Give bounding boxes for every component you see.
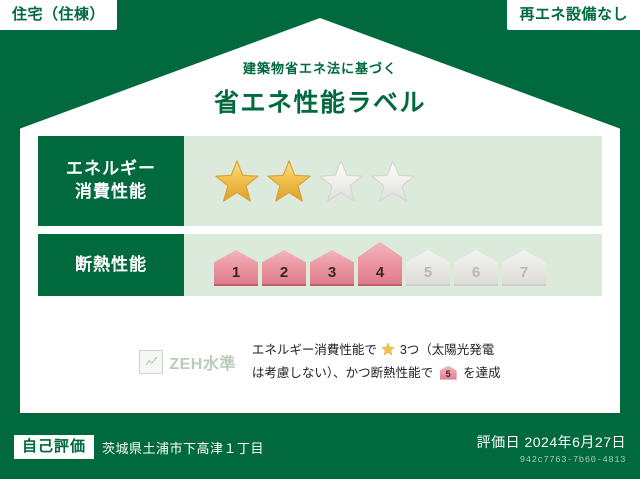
- energy-label-line1: エネルギー: [66, 158, 156, 181]
- grade-badge-5: 5: [406, 252, 450, 286]
- label-title-block: 建築物省エネ法に基づく 省エネ性能ラベル: [20, 58, 620, 119]
- building-type-badge: 住宅（住棟）: [0, 0, 117, 30]
- self-evaluation-badge: 自己評価: [14, 435, 94, 459]
- evaluation-date: 評価日 2024年6月27日: [477, 432, 626, 452]
- grade-badge-6: 6: [454, 252, 498, 286]
- grade-number-6: 6: [472, 265, 480, 286]
- inline-grade-number: 5: [440, 366, 457, 380]
- energy-performance-label-cell: エネルギー 消費性能: [38, 136, 184, 226]
- grade-badge-2: 2: [262, 252, 306, 286]
- inline-star-icon: [381, 345, 398, 359]
- zeh-description: エネルギー消費性能で 3つ（太陽光発電 は考慮しない）、かつ断熱性能で 5: [252, 340, 501, 383]
- zeh-mark: ZEH水準: [139, 350, 236, 374]
- zeh-mark-label: ZEH水準: [169, 350, 236, 374]
- building-type-badge-label: 住宅（住棟）: [12, 6, 105, 23]
- star-icon-filled-2: [266, 158, 312, 204]
- zeh-description-line2: は考慮しない）、かつ断熱性能で 5 を達成: [252, 363, 501, 384]
- label-sheet-inner: 建築物省エネ法に基づく 省エネ性能ラベル エネルギー 消費性能: [20, 18, 620, 413]
- label-footer: 自己評価 茨城県土浦市下高津１丁目 評価日 2024年6月27日 942c776…: [0, 415, 640, 479]
- insulation-performance-value-cell: 1 2 3 4: [184, 234, 602, 296]
- title-subtitle: 建築物省エネ法に基づく: [20, 58, 620, 77]
- self-evaluation-block: 自己評価 茨城県土浦市下高津１丁目: [14, 435, 264, 459]
- grade-number-1: 1: [232, 265, 240, 286]
- zeh-desc-line2-text-a: は考慮しない）、かつ断熱性能で: [252, 366, 433, 380]
- star-icon-filled-1: [214, 158, 260, 204]
- energy-performance-value-cell: [184, 136, 602, 226]
- grade-number-4: 4: [376, 265, 384, 286]
- evaluation-id: 942c7763-7b60-4813: [477, 455, 626, 465]
- property-address: 茨城県土浦市下高津１丁目: [102, 438, 264, 457]
- insulation-label: 断熱性能: [75, 254, 147, 277]
- star-icon-empty-4: [370, 158, 416, 204]
- grade-number-5: 5: [424, 265, 432, 286]
- zeh-desc-line1-text-b: 3つ（太陽光発電: [400, 343, 494, 357]
- grade-badge-3: 3: [310, 252, 354, 286]
- zeh-standard-block: ZEH水準 エネルギー消費性能で 3つ（太陽光発電 は考慮しない）、かつ断熱性: [20, 340, 620, 383]
- grade-number-2: 2: [280, 265, 288, 286]
- page-title: 省エネ性能ラベル: [20, 83, 620, 119]
- grade-number-3: 3: [328, 265, 336, 286]
- renewable-energy-badge-label: 再エネ設備なし: [519, 6, 628, 23]
- grade-badge-1: 1: [214, 252, 258, 286]
- star-icon-empty-3: [318, 158, 364, 204]
- zeh-chart-icon: [139, 350, 163, 374]
- insulation-performance-row: 断熱性能 1 2: [38, 234, 602, 296]
- energy-performance-label: 住宅（住棟） 再エネ設備なし 建築物省エネ法に基づく 省エネ性能ラベル エネルギ…: [0, 0, 640, 479]
- energy-performance-row: エネルギー 消費性能: [38, 136, 602, 226]
- grade-number-7: 7: [520, 265, 528, 286]
- insulation-performance-label-cell: 断熱性能: [38, 234, 184, 296]
- inline-grade-badge: 5: [440, 366, 457, 380]
- star-rating: [214, 158, 416, 204]
- energy-label-line2: 消費性能: [75, 181, 147, 204]
- grade-badge-7: 7: [502, 252, 546, 286]
- zeh-description-line1: エネルギー消費性能で 3つ（太陽光発電: [252, 340, 501, 363]
- grade-badge-4: 4: [358, 244, 402, 286]
- insulation-grade-scale: 1 2 3 4: [214, 244, 546, 286]
- performance-rows: エネルギー 消費性能: [38, 136, 602, 304]
- zeh-desc-line1-text-a: エネルギー消費性能で: [252, 343, 377, 357]
- label-sheet: 建築物省エネ法に基づく 省エネ性能ラベル エネルギー 消費性能: [20, 18, 620, 413]
- zeh-desc-line2-text-b: を達成: [463, 366, 501, 380]
- evaluation-meta: 評価日 2024年6月27日 942c7763-7b60-4813: [477, 432, 626, 465]
- renewable-energy-badge: 再エネ設備なし: [507, 0, 640, 30]
